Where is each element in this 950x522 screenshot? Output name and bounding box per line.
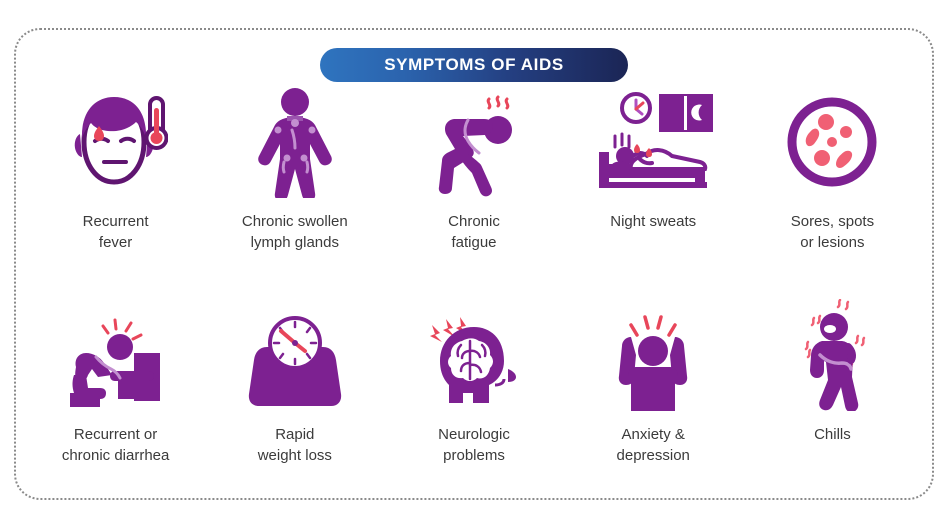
person-holding-head-stress-icon [603, 307, 703, 411]
symptom-label: Recurrent or chronic diarrhea [62, 425, 170, 466]
icon-container [225, 78, 365, 198]
icon-container [46, 291, 186, 411]
label-line: Recurrent [83, 212, 149, 233]
symptoms-row-1: Recurrent fever [26, 78, 922, 253]
icon-container [762, 78, 902, 198]
label-line: Chills [814, 425, 851, 446]
symptom-label: Chronic fatigue [448, 212, 500, 253]
symptom-item-neurologic-problems[interactable]: Neurologic problems [384, 291, 563, 466]
shivering-person-chills-icon [786, 299, 878, 411]
label-line: problems [438, 446, 510, 467]
label-line: weight loss [258, 446, 332, 467]
label-line: lymph glands [242, 233, 348, 254]
body-swollen-lymph-glands-icon [249, 86, 341, 198]
person-sweating-in-bed-night-icon [591, 86, 715, 198]
page-title: SYMPTOMS OF AIDS [384, 55, 564, 75]
symptom-label: Rapid weight loss [258, 425, 332, 466]
label-line: Chronic swollen [242, 212, 348, 233]
symptom-label: Recurrent fever [83, 212, 149, 253]
symptom-label: Chronic swollen lymph glands [242, 212, 348, 253]
exhausted-hunched-person-icon [426, 86, 522, 198]
symptom-label: Neurologic problems [438, 425, 510, 466]
label-line: chronic diarrhea [62, 446, 170, 467]
label-line: Rapid [258, 425, 332, 446]
label-line: depression [617, 446, 690, 467]
label-line: Sores, spots [791, 212, 874, 233]
symptom-item-chronic-fatigue[interactable]: Chronic fatigue [384, 78, 563, 253]
icon-container [404, 78, 544, 198]
symptom-label: Chills [814, 425, 851, 446]
label-line: Night sweats [610, 212, 696, 233]
infographic-panel: SYMPTOMS OF AIDS [14, 28, 934, 500]
label-line: fever [83, 233, 149, 254]
symptom-item-chronic-diarrhea[interactable]: Recurrent or chronic diarrhea [26, 291, 205, 466]
weighing-scale-icon [245, 311, 345, 411]
feverish-face-thermometer-icon [64, 86, 168, 198]
symptom-item-night-sweats[interactable]: Night sweats [564, 78, 743, 253]
label-line: Recurrent or [62, 425, 170, 446]
person-kneeling-toilet-icon [60, 311, 172, 411]
icon-container [583, 291, 723, 411]
icon-container [762, 291, 902, 411]
symptom-label: Sores, spots or lesions [791, 212, 874, 253]
icon-container [404, 291, 544, 411]
icon-container [225, 291, 365, 411]
label-line: Chronic [448, 212, 500, 233]
label-line: fatigue [448, 233, 500, 254]
symptom-label: Anxiety & depression [617, 425, 690, 466]
head-brain-neurologic-icon [422, 311, 526, 411]
symptom-item-anxiety-depression[interactable]: Anxiety & depression [564, 291, 743, 466]
symptom-item-rapid-weight-loss[interactable]: Rapid weight loss [205, 291, 384, 466]
icon-container [583, 78, 723, 198]
label-line: or lesions [791, 233, 874, 254]
symptom-item-sores-spots-lesions[interactable]: Sores, spots or lesions [743, 78, 922, 253]
symptom-item-recurrent-fever[interactable]: Recurrent fever [26, 78, 205, 253]
icon-container [46, 78, 186, 198]
title-banner: SYMPTOMS OF AIDS [320, 48, 628, 82]
symptoms-row-2: Recurrent or chronic diarrhea [26, 291, 922, 466]
symptoms-grid: Recurrent fever [16, 64, 932, 498]
symptom-label: Night sweats [610, 212, 696, 233]
label-line: Anxiety & [617, 425, 690, 446]
symptom-item-chills[interactable]: Chills [743, 291, 922, 466]
skin-sores-spots-lesions-icon [782, 86, 882, 198]
symptom-item-swollen-lymph-glands[interactable]: Chronic swollen lymph glands [205, 78, 384, 253]
label-line: Neurologic [438, 425, 510, 446]
